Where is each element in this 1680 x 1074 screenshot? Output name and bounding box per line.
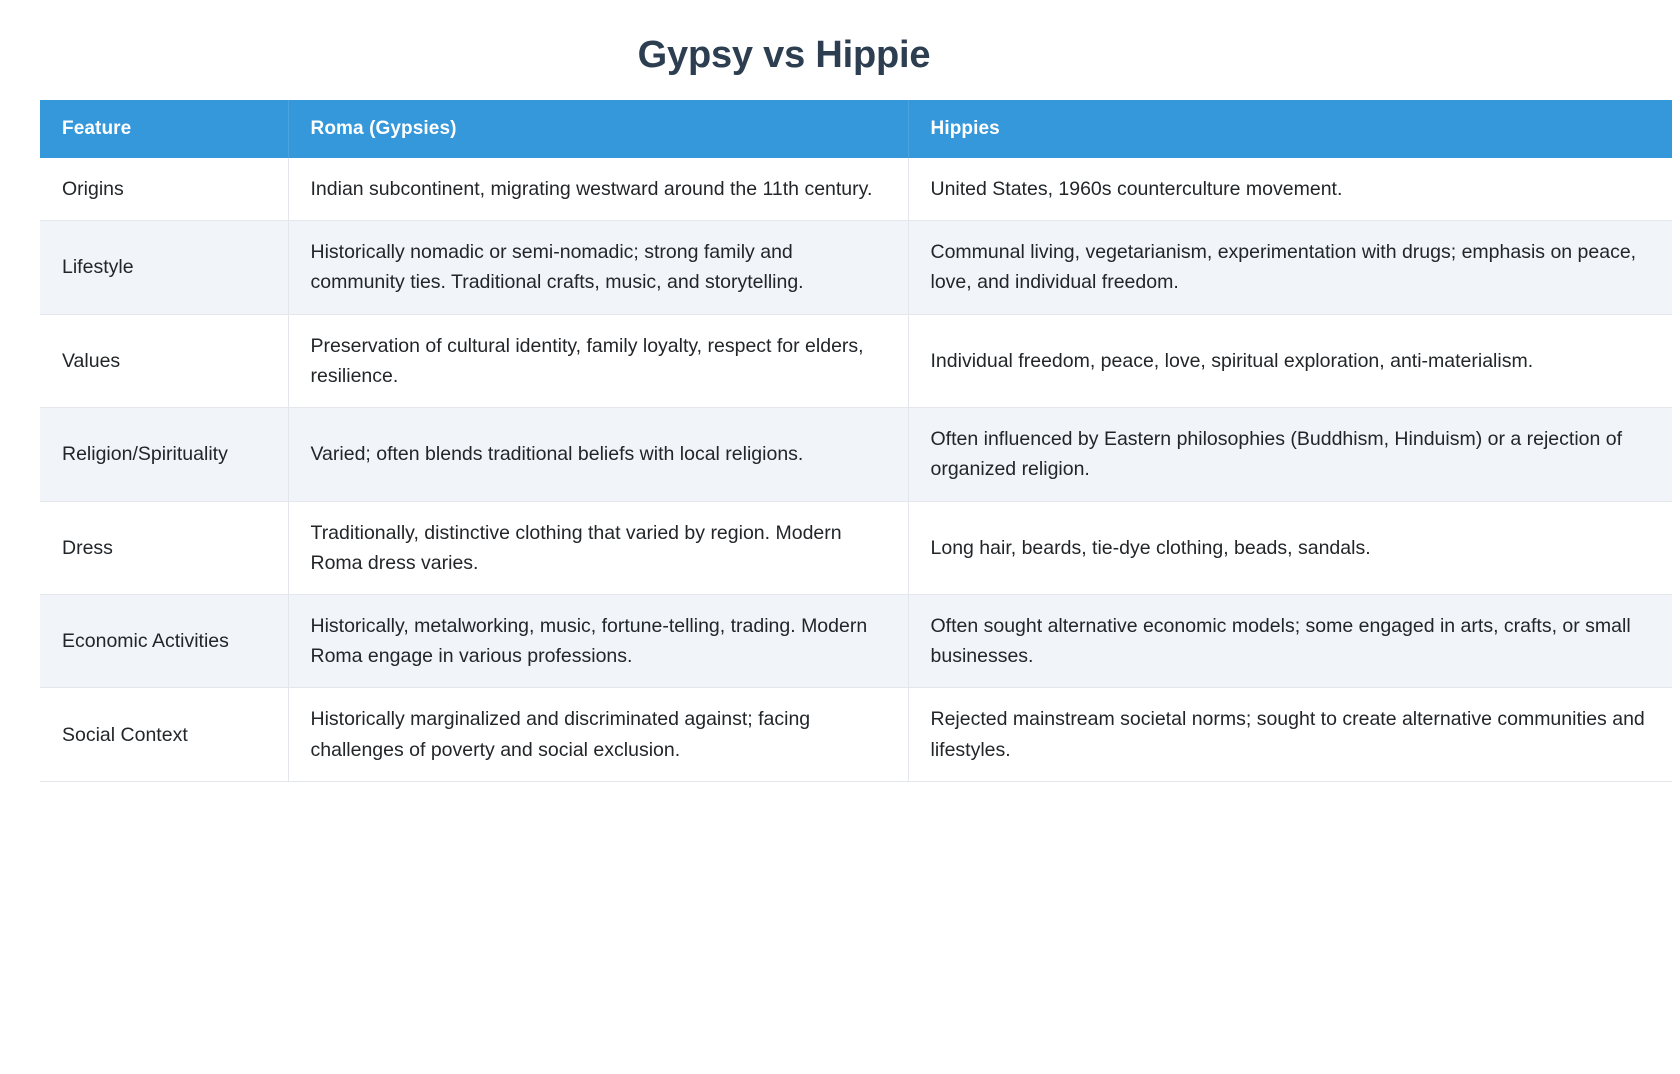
table-row: LifestyleHistorically nomadic or semi-no… <box>40 221 1672 314</box>
table-cell-feature: Dress <box>40 501 288 594</box>
table-row: DressTraditionally, distinctive clothing… <box>40 501 1672 594</box>
table-cell-feature: Religion/Spirituality <box>40 408 288 501</box>
table-cell-hippies: Long hair, beards, tie-dye clothing, bea… <box>908 501 1672 594</box>
page-title: Gypsy vs Hippie <box>0 0 1568 80</box>
table-cell-roma: Historically, metalworking, music, fortu… <box>288 594 908 687</box>
table-body: OriginsIndian subcontinent, migrating we… <box>40 158 1672 781</box>
comparison-table: Feature Roma (Gypsies) Hippies OriginsIn… <box>40 100 1672 782</box>
table-row: Economic ActivitiesHistorically, metalwo… <box>40 594 1672 687</box>
table-cell-roma: Historically nomadic or semi-nomadic; st… <box>288 221 908 314</box>
table-cell-roma: Varied; often blends traditional beliefs… <box>288 408 908 501</box>
table-cell-roma: Preservation of cultural identity, famil… <box>288 314 908 407</box>
table-cell-roma: Indian subcontinent, migrating westward … <box>288 158 908 221</box>
table-cell-hippies: Communal living, vegetarianism, experime… <box>908 221 1672 314</box>
table-cell-feature: Lifestyle <box>40 221 288 314</box>
table-cell-roma: Historically marginalized and discrimina… <box>288 688 908 781</box>
table-header: Feature Roma (Gypsies) Hippies <box>40 100 1672 158</box>
table-cell-hippies: Individual freedom, peace, love, spiritu… <box>908 314 1672 407</box>
table-cell-feature: Values <box>40 314 288 407</box>
table-row: Religion/SpiritualityVaried; often blend… <box>40 408 1672 501</box>
page-root: Gypsy vs Hippie Feature Roma (Gypsies) H… <box>0 0 1680 1074</box>
table-row: OriginsIndian subcontinent, migrating we… <box>40 158 1672 221</box>
table-cell-hippies: Rejected mainstream societal norms; soug… <box>908 688 1672 781</box>
table-cell-feature: Social Context <box>40 688 288 781</box>
table-row: Social ContextHistorically marginalized … <box>40 688 1672 781</box>
comparison-table-container: Feature Roma (Gypsies) Hippies OriginsIn… <box>40 100 1680 782</box>
table-row: ValuesPreservation of cultural identity,… <box>40 314 1672 407</box>
table-cell-feature: Economic Activities <box>40 594 288 687</box>
column-header-feature: Feature <box>40 100 288 158</box>
table-cell-hippies: Often influenced by Eastern philosophies… <box>908 408 1672 501</box>
column-header-hippies: Hippies <box>908 100 1672 158</box>
table-header-row: Feature Roma (Gypsies) Hippies <box>40 100 1672 158</box>
table-cell-roma: Traditionally, distinctive clothing that… <box>288 501 908 594</box>
table-cell-hippies: United States, 1960s counterculture move… <box>908 158 1672 221</box>
column-header-roma: Roma (Gypsies) <box>288 100 908 158</box>
table-cell-hippies: Often sought alternative economic models… <box>908 594 1672 687</box>
table-cell-feature: Origins <box>40 158 288 221</box>
